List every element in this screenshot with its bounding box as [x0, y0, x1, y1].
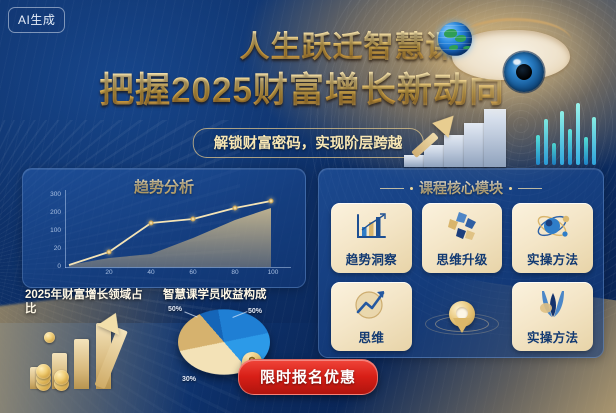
core-modules-panel: 课程核心模块 趋势洞察: [318, 168, 604, 358]
eye-highlight: [513, 59, 521, 65]
module-card-practical-method-1[interactable]: 实操方法: [512, 203, 593, 273]
coin: [54, 370, 69, 385]
header: 人生跃迁智慧课 把握2025财富增长新动向 解锁财富密码，实现阶层跨越: [0, 0, 616, 165]
x-tick: 40: [147, 269, 154, 276]
atom-icon: [512, 203, 593, 249]
trend-y-axis-ticks: 300 200 100 20 0: [31, 191, 61, 273]
modules-title: 课程核心模块: [419, 178, 503, 198]
divider-dot: [410, 187, 413, 190]
coin: [44, 332, 55, 343]
trend-analysis-panel: 趋势分析 300 200 100 20 0: [22, 168, 306, 288]
data-point: [107, 250, 112, 255]
trend-line-chart: 300 200 100 20 0: [65, 196, 285, 268]
module-card-mindset[interactable]: 思维: [331, 282, 412, 352]
y-tick: 300: [50, 191, 61, 198]
trend-x-axis-ticks: 20 40 60 80 100: [65, 269, 285, 279]
modules-header: 课程核心模块: [319, 169, 603, 198]
module-label: 思维升级: [436, 249, 487, 268]
globe-icon: [438, 22, 472, 56]
location-pin-icon: [422, 282, 503, 347]
eye-iris: [504, 52, 544, 92]
x-tick: 100: [268, 269, 279, 276]
x-tick: 60: [189, 269, 196, 276]
bar: [74, 339, 89, 389]
ai-generated-badge: AI生成: [8, 7, 65, 33]
pie-label: 50%: [248, 308, 262, 315]
y-tick: 20: [54, 245, 61, 252]
cta-button[interactable]: 限时报名优惠: [238, 359, 378, 395]
module-label: 趋势洞察: [346, 249, 397, 268]
pie-label: 30%: [182, 376, 196, 383]
eye-pupil: [516, 64, 532, 80]
module-card-mindset-upgrade[interactable]: 思维升级: [422, 203, 503, 273]
trend-chart-svg: [65, 196, 285, 268]
module-card-location[interactable]: [422, 282, 503, 352]
wealth-growth-label: 2025年财富增长领域占比: [25, 288, 145, 317]
growth-arrow-icon: [432, 108, 462, 138]
bar-chart-icon: [331, 203, 412, 249]
coin: [36, 364, 51, 379]
income-composition-label: 智慧课学员收益构成: [163, 288, 293, 302]
y-tick: 200: [50, 209, 61, 216]
x-tick: 80: [231, 269, 238, 276]
pin-hole: [456, 307, 468, 319]
modules-grid: 趋势洞察 思维升级: [331, 203, 593, 351]
pin-body: [449, 301, 475, 327]
divider-line: [518, 188, 542, 189]
data-point: [149, 221, 154, 226]
leaf-icon: [512, 282, 593, 328]
pie-label: 50%: [168, 306, 182, 313]
data-point: [269, 199, 274, 204]
y-tick: 100: [50, 227, 61, 234]
module-label: 思维: [359, 327, 385, 346]
module-label: 实操方法: [527, 327, 578, 346]
subtitle: 解锁财富密码，实现阶层跨越: [193, 128, 424, 158]
poster-canvas: AI生成: [0, 0, 616, 413]
growth-arrow-icon: [331, 282, 412, 328]
pie-leader-line: [184, 311, 197, 317]
data-point: [191, 217, 196, 222]
divider-dot: [509, 187, 512, 190]
divider-line: [380, 188, 404, 189]
module-label: 实操方法: [527, 249, 578, 268]
puzzle-icon: [422, 203, 503, 249]
module-card-practical-method-2[interactable]: 实操方法: [512, 282, 593, 352]
y-tick: 0: [57, 263, 61, 270]
module-card-trend-insight[interactable]: 趋势洞察: [331, 203, 412, 273]
data-point: [233, 206, 238, 211]
x-tick: 20: [105, 269, 112, 276]
